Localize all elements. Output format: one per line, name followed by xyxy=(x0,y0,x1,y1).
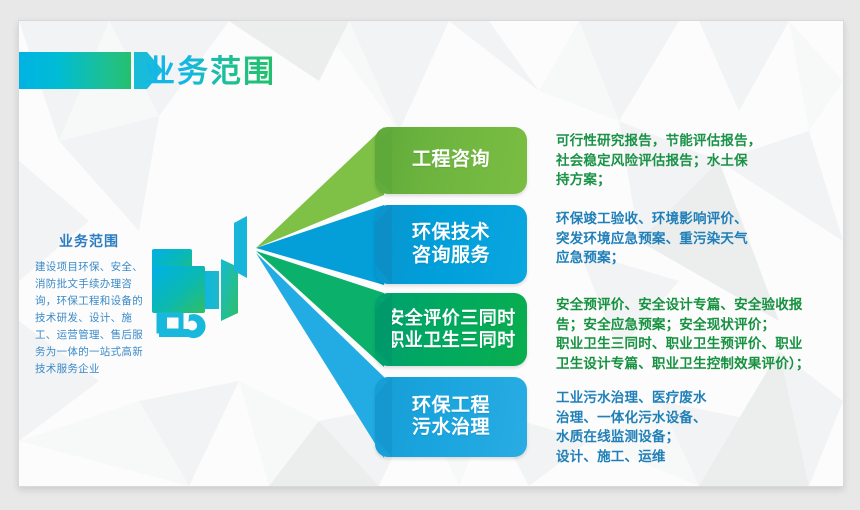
box-notch-3 xyxy=(375,293,392,366)
box-notch-2 xyxy=(375,205,392,284)
sidebar-description-panel: 业务范围 建设项目环保、安全、消防批文手续办理咨询，环保工程和设备的技术研发、设… xyxy=(35,231,143,378)
service-box-environmental-tech-consulting[interactable]: 环保技术 咨询服务 xyxy=(375,205,527,284)
slide-canvas: 业务范围 业务范围 建设项目环保、安全、消防批文手续办理咨询，环保工程和设备的技… xyxy=(18,20,844,487)
box-notch-4 xyxy=(375,377,392,457)
service-box-label: 环保工程 污水治理 xyxy=(375,395,527,440)
service-box-safety-evaluation[interactable]: 安全评价三同时 职业卫生三同时 xyxy=(375,293,527,366)
beam-origin-lens xyxy=(234,216,247,278)
service-description-2: 环保竣工验收、环境影响评价、 突发环境应急预案、重污染天气 应急预案； xyxy=(556,209,844,268)
box-notch-1 xyxy=(375,127,392,194)
title-banner-bar xyxy=(19,52,131,89)
service-box-label: 安全评价三同时 职业卫生三同时 xyxy=(375,308,527,350)
service-box-label: 环保技术 咨询服务 xyxy=(375,222,527,267)
sidebar-heading: 业务范围 xyxy=(35,231,143,251)
service-description-1: 可行性研究报告，节能评估报告， 社会稳定风险评估报告；水土保 持方案； xyxy=(556,131,844,190)
slide-stage: 业务范围 业务范围 建设项目环保、安全、消防批文手续办理咨询，环保工程和设备的技… xyxy=(0,0,860,510)
service-box-label: 工程咨询 xyxy=(375,149,527,171)
service-box-group: 工程咨询 环保技术 咨询服务 安全评价三同时 职业卫生三同时 环保工程 污水治理 xyxy=(359,113,539,473)
service-box-engineering-consulting[interactable]: 工程咨询 xyxy=(375,127,527,194)
sidebar-body-text: 建设项目环保、安全、消防批文手续办理咨询，环保工程和设备的技术研发、设计、施工、… xyxy=(35,259,143,378)
service-description-3: 安全预评价、安全设计专篇、安全验收报 告；安全应急预案；安全现状评价； 职业卫生… xyxy=(556,295,844,373)
service-description-4: 工业污水治理、医疗废水 治理、一体化污水设备、 水质在线监测设备； 设计、施工、… xyxy=(556,388,844,466)
service-box-sewage-treatment[interactable]: 环保工程 污水治理 xyxy=(375,377,527,457)
page-title: 业务范围 xyxy=(144,52,276,92)
